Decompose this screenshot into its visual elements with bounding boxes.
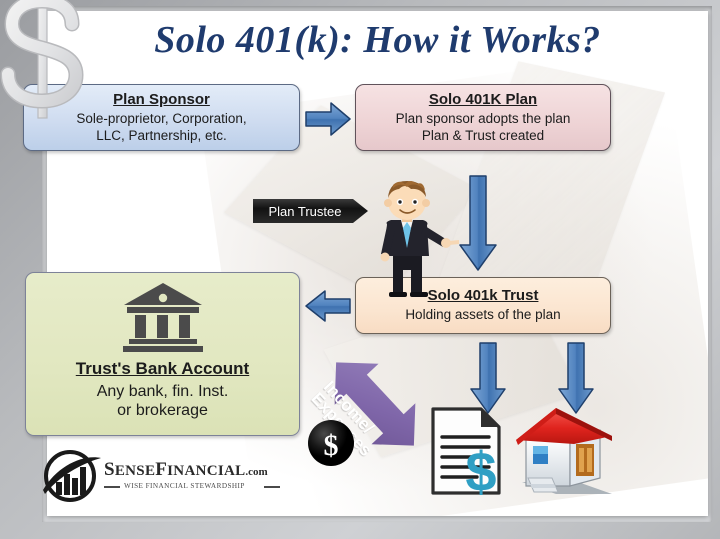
logo-wordmark: SENSEFINANCIAL.com bbox=[104, 459, 268, 481]
box-plan-sponsor-title: Plan Sponsor bbox=[113, 91, 210, 109]
logo-rule-right bbox=[264, 486, 280, 488]
box-solo-401k-plan[interactable]: Solo 401K Plan Plan sponsor adopts the p… bbox=[355, 84, 611, 151]
bank-building-icon bbox=[121, 281, 205, 353]
box-plan-sponsor-line2: LLC, Partnership, etc. bbox=[96, 128, 227, 144]
box-solo-401k-plan-line1: Plan sponsor adopts the plan bbox=[396, 111, 571, 127]
box-bank-line1: Any bank, fin. Inst. bbox=[97, 382, 229, 402]
svg-text:$: $ bbox=[465, 440, 496, 498]
box-bank-line2: or brokerage bbox=[117, 401, 208, 421]
logo-name-inancial: INANCIAL bbox=[167, 463, 245, 479]
logo-rule-left bbox=[104, 486, 120, 488]
logo-name-f: F bbox=[155, 459, 167, 480]
logo-name-s: S bbox=[104, 459, 115, 480]
box-solo-401k-plan-title: Solo 401K Plan bbox=[429, 91, 537, 109]
svg-text:$: $ bbox=[324, 429, 339, 462]
logo-dotcom: .com bbox=[245, 466, 267, 478]
dollar-coin-icon: $ bbox=[305, 417, 357, 469]
plan-trustee-banner[interactable] bbox=[253, 198, 369, 224]
page-title: Solo 401(k): How it Works? bbox=[47, 18, 708, 62]
box-bank-title: Trust's Bank Account bbox=[76, 359, 249, 380]
logo-name-ense: ENSE bbox=[115, 463, 155, 479]
box-solo-401k-trust-line1: Holding assets of the plan bbox=[405, 307, 560, 323]
house-icon bbox=[508, 400, 618, 500]
arrow-left-icon bbox=[303, 288, 353, 324]
box-solo-401k-plan-line2: Plan & Trust created bbox=[422, 128, 544, 144]
dollar-sign-watermark bbox=[0, 0, 100, 122]
arrow-right-icon bbox=[303, 100, 353, 138]
document-dollar-icon: $ bbox=[425, 403, 511, 498]
logo-tagline: WISE FINANCIAL STEWARDSHIP bbox=[124, 482, 245, 490]
box-trusts-bank-account[interactable]: Trust's Bank Account Any bank, fin. Inst… bbox=[25, 272, 300, 436]
businessman-trustee-icon bbox=[355, 178, 465, 298]
box-plan-sponsor-line1: Sole-proprietor, Corporation, bbox=[76, 111, 246, 127]
